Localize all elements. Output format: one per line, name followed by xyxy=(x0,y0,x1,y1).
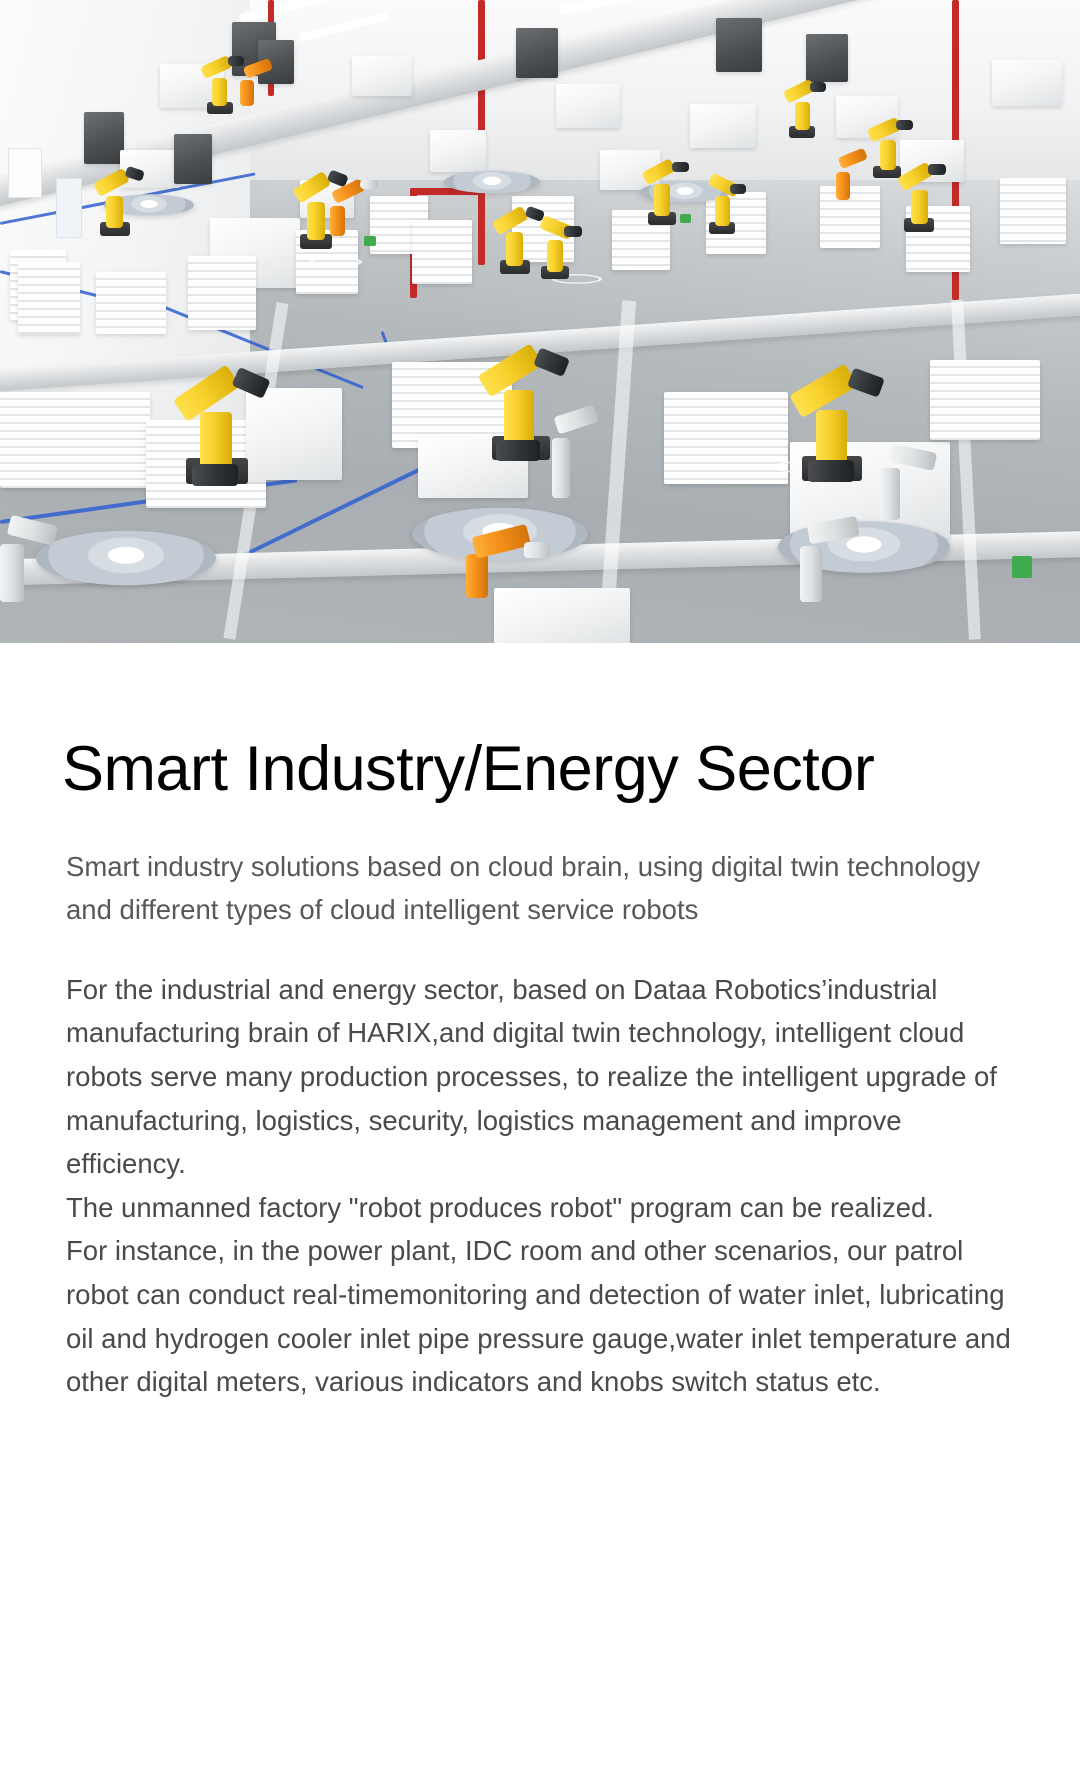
crate-stack xyxy=(96,272,166,334)
tool-indicator-green xyxy=(680,214,691,223)
crate-stack xyxy=(412,220,472,284)
body-copy: Smart industry solutions based on cloud … xyxy=(0,801,1080,1404)
floor-halo xyxy=(310,257,362,268)
machine-cabinet xyxy=(84,112,124,164)
worktable xyxy=(556,84,620,128)
tool-indicator-green xyxy=(364,236,376,246)
article-content: Smart Industry/Energy Sector Smart indus… xyxy=(0,643,1080,1404)
crate-stack xyxy=(1000,178,1066,244)
worktable xyxy=(430,130,486,172)
floor-lane xyxy=(951,300,981,640)
body-paragraph-1: For the industrial and energy sector, ba… xyxy=(66,968,1020,1186)
machine-cabinet xyxy=(174,134,212,184)
worktable xyxy=(352,56,412,96)
factory-scene xyxy=(0,0,1080,643)
crate-stack xyxy=(930,360,1040,440)
crate-stack xyxy=(18,262,80,334)
machine-cabinet xyxy=(516,28,558,78)
crate-stack xyxy=(820,186,880,248)
crate-stack xyxy=(0,392,150,488)
turntable-disc xyxy=(444,171,540,194)
crate-stack xyxy=(664,392,788,484)
crate-stack xyxy=(188,256,256,330)
wall-placard xyxy=(56,178,82,238)
body-paragraph-2: The unmanned factory "robot produces rob… xyxy=(66,1186,1020,1230)
lede-paragraph: Smart industry solutions based on cloud … xyxy=(66,845,1020,932)
wall-placard xyxy=(8,148,42,198)
worktable xyxy=(690,104,756,148)
machine-cabinet xyxy=(806,34,848,82)
page-title: Smart Industry/Energy Sector xyxy=(0,643,1080,801)
worktable xyxy=(246,388,342,480)
worktable-front xyxy=(494,588,630,643)
tool-indicator-green xyxy=(1012,556,1032,578)
machine-cabinet xyxy=(716,18,762,72)
turntable-disc xyxy=(36,531,216,585)
hero-image xyxy=(0,0,1080,643)
body-paragraph-3: For instance, in the power plant, IDC ro… xyxy=(66,1229,1020,1403)
worktable xyxy=(992,60,1062,106)
